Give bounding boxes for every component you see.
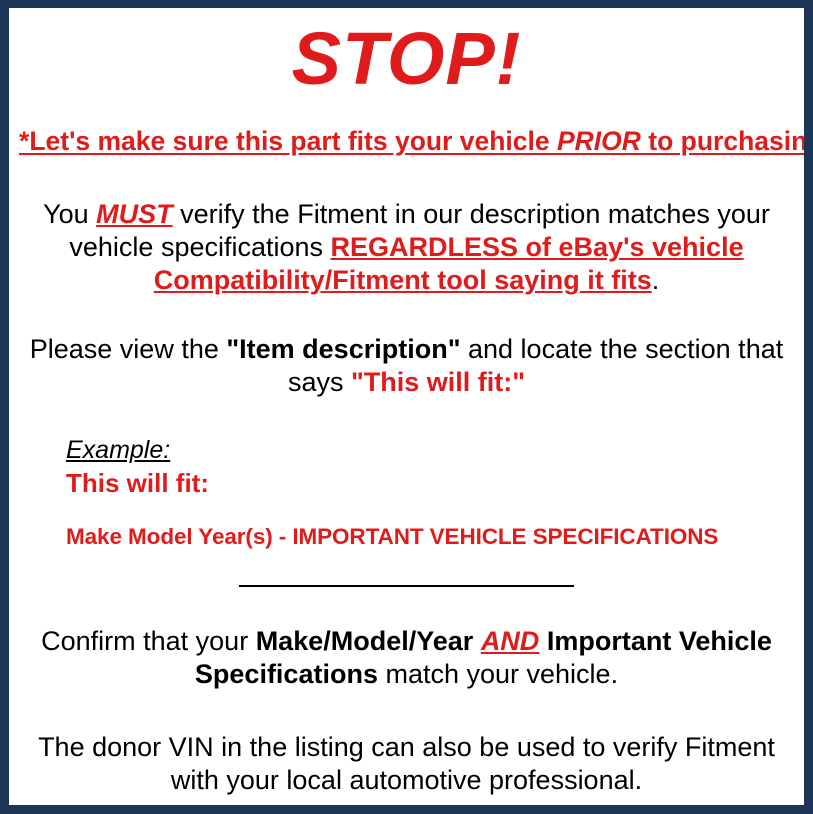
must-emphasis: MUST (96, 199, 173, 229)
subtitle-emphasis-prior: PRIOR (557, 126, 641, 156)
stop-heading: STOP! (19, 8, 794, 96)
make-model-year-emphasis: Make/Model/Year (256, 626, 474, 656)
horizontal-divider (239, 585, 574, 587)
notice-inner-area: STOP! *Let's make sure this part fits yo… (9, 8, 804, 805)
paragraph-must-verify: You MUST verify the Fitment in our descr… (19, 156, 794, 297)
paragraph-donor-vin: The donor VIN in the listing can also be… (19, 691, 794, 797)
subtitle-prefix: *Let's make sure this part fits your veh… (19, 126, 557, 156)
paragraph-confirm-match: Confirm that your Make/Model/Year AND Im… (19, 595, 794, 691)
view-text-part1: Please view the (30, 334, 227, 364)
divider-wrapper (19, 549, 794, 595)
this-will-fit-emphasis: "This will fit:" (351, 367, 525, 397)
confirm-text-part2: match your vehicle. (378, 659, 618, 689)
subtitle-line: *Let's make sure this part fits your veh… (19, 96, 794, 156)
subtitle-suffix: to purchasing* (641, 126, 813, 156)
must-text-part1: You (43, 199, 96, 229)
item-description-emphasis: "Item description" (226, 334, 460, 364)
paragraph-item-description: Please view the "Item description" and l… (19, 297, 794, 399)
thank-you-line: Thank you for confirming Fitment! (19, 797, 794, 814)
confirm-text-part1: Confirm that your (41, 626, 256, 656)
must-text-part3: . (652, 265, 660, 295)
example-block: Example: This will fit: Make Model Year(… (19, 399, 794, 549)
example-this-will-fit-line: This will fit: (66, 465, 794, 499)
fitment-notice-card: STOP! *Let's make sure this part fits yo… (0, 0, 813, 814)
confirm-space-1 (473, 626, 481, 656)
example-specification-line: Make Model Year(s) - IMPORTANT VEHICLE S… (66, 499, 794, 550)
example-label: Example: (66, 437, 170, 465)
confirm-space-2 (539, 626, 547, 656)
and-emphasis: AND (481, 626, 540, 656)
